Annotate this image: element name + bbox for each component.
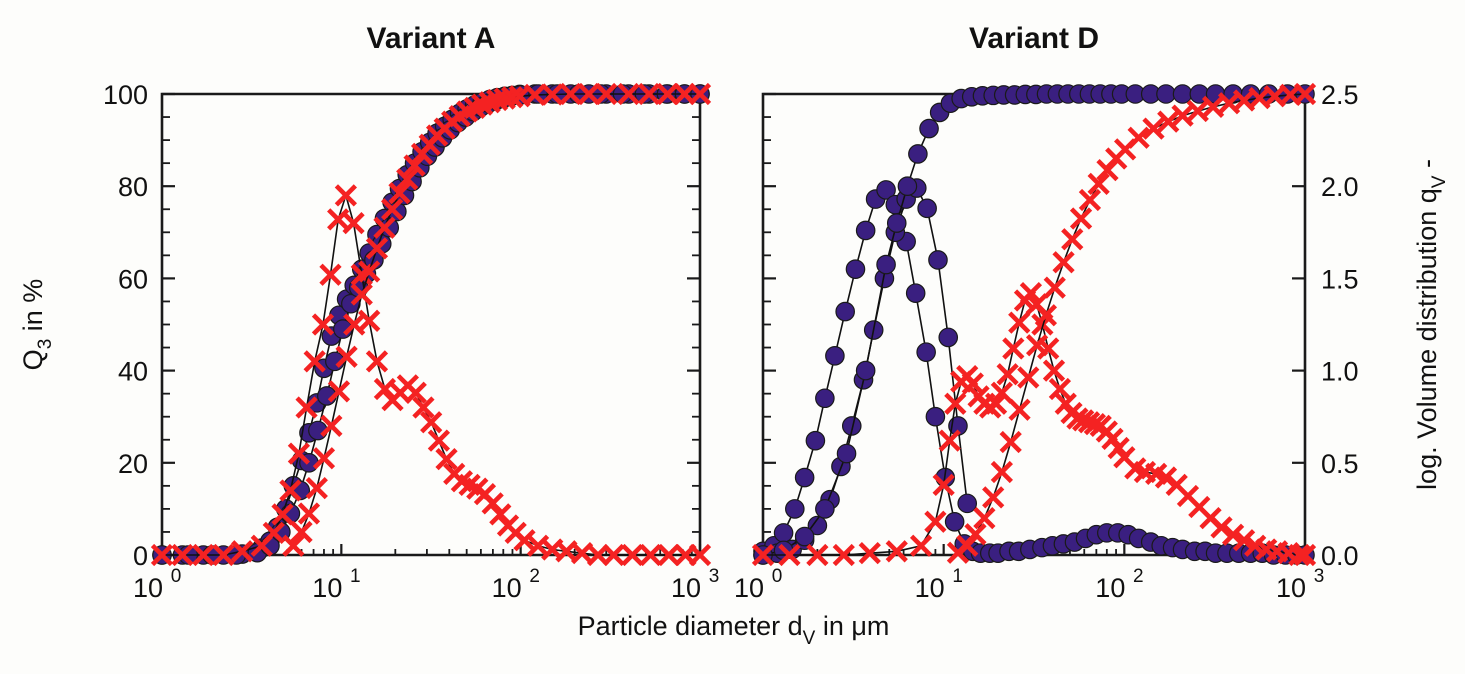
particle-size-distribution-figure: Variant AVariant D1001011021030204060801… (0, 0, 1465, 674)
x-tick-exponent: 0 (171, 566, 182, 587)
x-tick-label: 101 (915, 566, 963, 603)
y-right-axis-title: log. Volume distribution qV - (1412, 159, 1450, 490)
cumulative-marker (816, 500, 834, 518)
x-tick-exponent: 3 (709, 566, 720, 587)
x-tick-mantissa: 10 (1095, 573, 1125, 603)
cumulative-marker (898, 177, 916, 195)
x-tick-label: 102 (1095, 566, 1143, 603)
series-group-panel-variant-a (153, 85, 710, 565)
y-left-tick-label: 40 (118, 357, 148, 387)
x-tick-exponent: 1 (952, 566, 963, 587)
x-tick-mantissa: 10 (312, 573, 342, 603)
x-axis-title: Particle diameter dV in μm (578, 611, 890, 649)
series-line (763, 94, 1305, 555)
cumulative-marker (939, 328, 957, 346)
plot-frame (763, 94, 1305, 555)
cumulative-marker (920, 119, 938, 137)
cumulative-marker (917, 343, 935, 361)
series-2 (153, 85, 709, 564)
y-left-tick-label: 0 (133, 541, 148, 571)
chart-canvas: Variant AVariant D1001011021030204060801… (0, 0, 1465, 674)
cumulative-marker (926, 408, 944, 426)
cumulative-marker (795, 527, 813, 545)
cumulative-marker (906, 284, 924, 302)
x-tick-mantissa: 10 (133, 573, 163, 603)
series-line (293, 94, 700, 546)
cumulative-marker (795, 468, 813, 486)
y-left-tick-label: 20 (118, 449, 148, 479)
cumulative-marker (958, 494, 976, 512)
x-tick-label: 102 (492, 566, 540, 603)
x-tick-mantissa: 10 (915, 573, 945, 603)
panel-title-1: Variant A (367, 22, 496, 55)
cumulative-marker (945, 513, 963, 531)
y-right-tick-label: 2.0 (1321, 172, 1359, 202)
y-left-tick-label: 60 (118, 264, 148, 294)
cumulative-marker (856, 361, 874, 379)
cumulative-marker (846, 260, 864, 278)
cumulative-marker (1157, 85, 1175, 103)
y-left-tick-label: 100 (103, 80, 148, 110)
cumulative-marker (1173, 85, 1191, 103)
cumulative-marker (836, 302, 854, 320)
cumulative-marker (806, 431, 824, 449)
y-left-axis-title: Q3 in % (18, 279, 56, 371)
x-tick-label: 103 (1276, 566, 1324, 603)
series-line (162, 195, 700, 555)
y-right-tick-label: 1.5 (1321, 264, 1359, 294)
x-tick-label: 103 (671, 566, 719, 603)
y-right-tick-label: 1.0 (1321, 357, 1359, 387)
x-tick-mantissa: 10 (671, 573, 701, 603)
series-group-panel-variant-d (754, 85, 1315, 565)
cumulative-marker (786, 500, 804, 518)
x-tick-label: 100 (734, 566, 782, 603)
cumulative-marker (909, 145, 927, 163)
series-3 (754, 85, 1314, 564)
y-right-tick-label: 0.0 (1321, 541, 1359, 571)
x-tick-exponent: 0 (772, 566, 783, 587)
cumulative-marker (816, 389, 834, 407)
series-4 (284, 85, 710, 556)
cumulative-marker (929, 251, 947, 269)
y-right-tick-label: 2.5 (1321, 80, 1359, 110)
series-4 (754, 284, 1315, 565)
cumulative-marker (856, 221, 874, 239)
y-left-tick-label: 80 (118, 172, 148, 202)
x-tick-label: 100 (133, 566, 181, 603)
x-axis-title-text: Particle diameter dV in μm (578, 611, 890, 649)
cumulative-marker (918, 199, 936, 217)
panel-title-2: Variant D (969, 22, 1099, 55)
x-tick-exponent: 2 (1133, 566, 1144, 587)
x-tick-label: 101 (312, 566, 360, 603)
x-tick-exponent: 1 (350, 566, 361, 587)
series-line (958, 94, 1305, 553)
y-right-tick-label: 0.5 (1321, 449, 1359, 479)
cumulative-marker (774, 524, 792, 542)
x-tick-mantissa: 10 (492, 573, 522, 603)
cumulative-marker (826, 347, 844, 365)
x-tick-mantissa: 10 (734, 573, 764, 603)
series-3 (153, 186, 710, 565)
series-5 (948, 85, 1314, 563)
x-tick-mantissa: 10 (1276, 573, 1306, 603)
x-tick-exponent: 2 (529, 566, 540, 587)
cumulative-marker (877, 255, 895, 273)
cumulative-marker (837, 444, 855, 462)
cumulative-marker (888, 214, 906, 232)
